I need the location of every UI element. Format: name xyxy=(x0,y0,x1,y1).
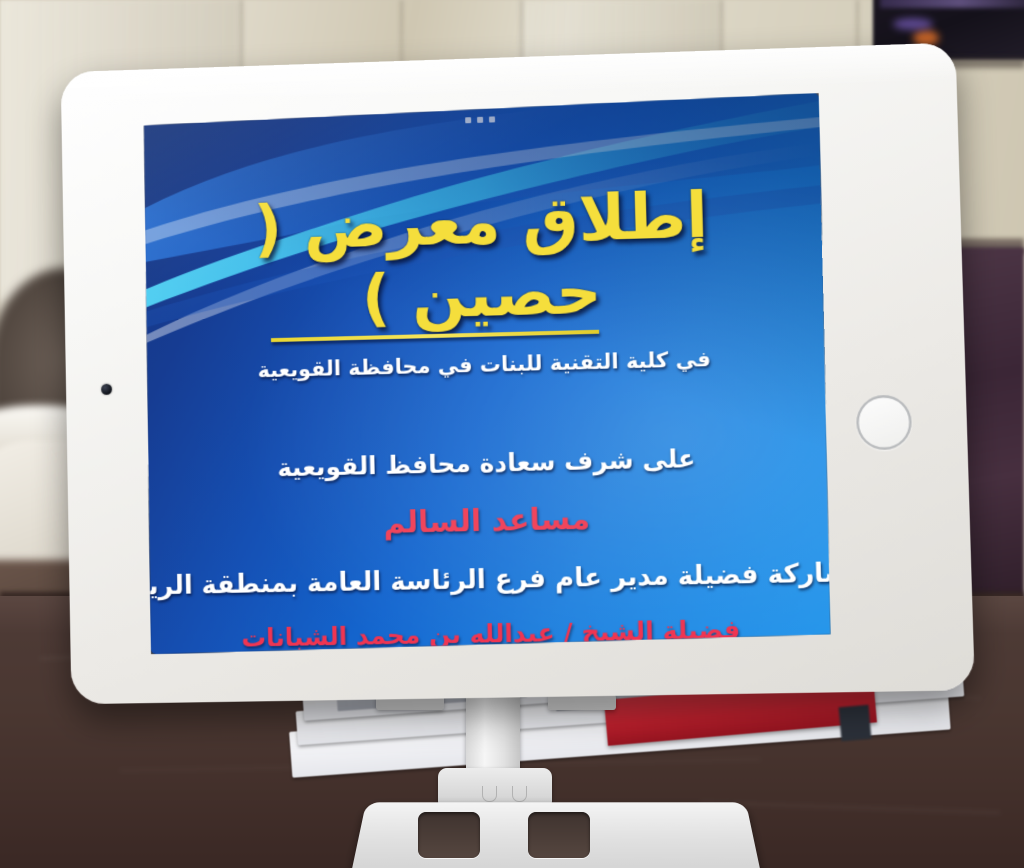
slide-text-content: إطلاق معرض ( حصين ) في كلية التقنية للبن… xyxy=(141,93,834,654)
tablet-screen[interactable]: إطلاق معرض ( حصين ) في كلية التقنية للبن… xyxy=(141,93,834,654)
front-camera-icon xyxy=(101,384,112,395)
screenshot-stage: إطلاق معرض ( حصين ) في كلية التقنية للبن… xyxy=(0,0,1024,868)
participation-line: بمشاركة فضيلة مدير عام فرع الرئاسة العام… xyxy=(141,557,834,602)
tv-glow-violet xyxy=(893,18,933,30)
hinge-slot-right xyxy=(512,786,527,802)
red-book-spine-tab xyxy=(839,705,872,741)
tablet-face: إطلاق معرض ( حصين ) في كلية التقنية للبن… xyxy=(61,43,975,705)
home-button[interactable] xyxy=(856,395,913,451)
hinge-slot-left xyxy=(482,786,497,802)
guest-of-honor-name: مساعد السالم xyxy=(383,502,590,541)
white-tablet[interactable]: إطلاق معرض ( حصين ) في كلية التقنية للبن… xyxy=(60,56,960,696)
sheikh-name: فضيلة الشيخ / عبدالله بن محمد الشبانات xyxy=(241,615,740,653)
tv-screen-content xyxy=(880,0,1024,8)
slide-subtitle: في كلية التقنية للبنات في محافظة القويعي… xyxy=(257,347,711,382)
presentation-slide[interactable]: إطلاق معرض ( حصين ) في كلية التقنية للبن… xyxy=(141,93,834,654)
stand-cutout-right xyxy=(528,812,590,858)
slide-title: إطلاق معرض ( حصين ) xyxy=(143,175,825,339)
honor-line: على شرف سعادة محافظ القويعية xyxy=(277,444,696,482)
stand-cutout-left xyxy=(418,812,480,858)
